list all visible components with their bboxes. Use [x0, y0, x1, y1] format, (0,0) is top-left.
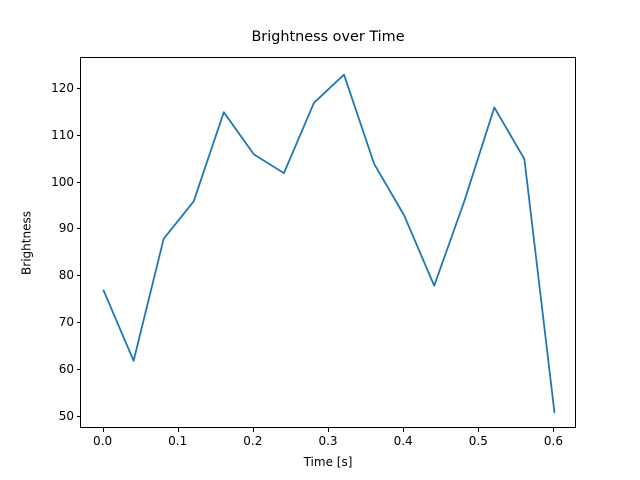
- chart-title: Brightness over Time: [80, 30, 576, 44]
- y-tick-mark: [77, 369, 81, 370]
- matplotlib-figure: Brightness over Time 0.00.10.20.30.40.50…: [0, 0, 640, 480]
- x-tick-label: 0.3: [318, 434, 337, 448]
- brightness-line-series: [104, 75, 555, 413]
- x-tick-mark: [103, 428, 104, 432]
- x-tick-label: 0.1: [168, 434, 187, 448]
- plot-svg: [81, 58, 577, 429]
- y-tick-mark: [77, 228, 81, 229]
- y-tick-mark: [77, 275, 81, 276]
- x-tick-mark: [403, 428, 404, 432]
- y-tick-mark: [77, 135, 81, 136]
- y-tick-mark: [77, 416, 81, 417]
- x-tick-label: 0.6: [544, 434, 563, 448]
- x-axis-label: Time [s]: [80, 455, 576, 469]
- plot-area: [80, 57, 576, 428]
- y-tick-mark: [77, 182, 81, 183]
- x-tick-label: 0.4: [394, 434, 413, 448]
- x-tick-label: 0.0: [93, 434, 112, 448]
- x-tick-label: 0.2: [243, 434, 262, 448]
- y-axis-label: Brightness: [20, 58, 40, 429]
- x-tick-mark: [553, 428, 554, 432]
- x-tick-mark: [253, 428, 254, 432]
- x-tick-mark: [328, 428, 329, 432]
- x-tick-label: 0.5: [469, 434, 488, 448]
- x-tick-mark: [178, 428, 179, 432]
- y-tick-mark: [77, 88, 81, 89]
- x-tick-mark: [478, 428, 479, 432]
- y-tick-mark: [77, 322, 81, 323]
